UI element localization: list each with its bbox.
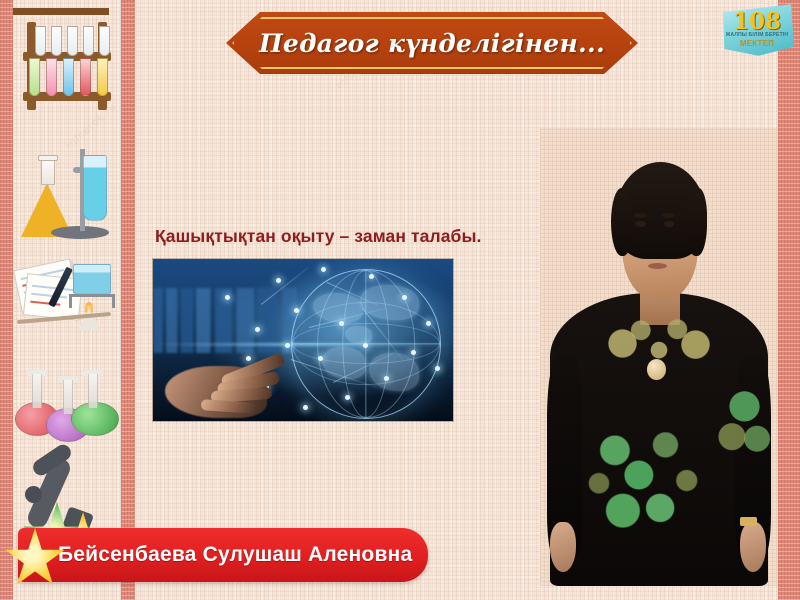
technology-network-image [153, 259, 453, 421]
slide-subtitle: Қашықтықтан оқыту – заман талабы. [155, 226, 481, 247]
flask-and-stand-icon [13, 130, 121, 245]
column-divider-band [121, 0, 135, 600]
left-edge-band [0, 0, 13, 600]
page-title: Педагог күнделігінен... [259, 29, 605, 58]
dress-floral-pattern-right [716, 366, 773, 467]
school-logo: 108 ЖАЛПЫ БІЛІМ БЕРЕТІН МЕКТЕП [720, 2, 794, 58]
presenter-name-ribbon: Бейсенбаева Сулушаш Аленовна [18, 528, 428, 582]
logo-number: 108 [720, 8, 794, 35]
presenter-name: Бейсенбаева Сулушаш Аленовна [18, 543, 412, 567]
right-edge-band [778, 0, 800, 600]
hand-illustration [165, 334, 303, 418]
presentation-slide: infourok.ru infourok.ru infourok.ru [0, 0, 800, 600]
notes-and-burner-icon [13, 258, 121, 354]
teacher-portrait-photo [540, 128, 778, 586]
slide-title-banner: Педагог күнделігінен... [226, 12, 638, 74]
dress-floral-pattern [583, 412, 716, 549]
pendant-necklace [647, 359, 666, 380]
logo-line2: МЕКТЕП [720, 39, 794, 48]
science-decoration-column [13, 0, 121, 600]
test-tube-rack-icon [13, 8, 121, 116]
logo-line1: ЖАЛПЫ БІЛІМ БЕРЕТІН [720, 32, 794, 38]
